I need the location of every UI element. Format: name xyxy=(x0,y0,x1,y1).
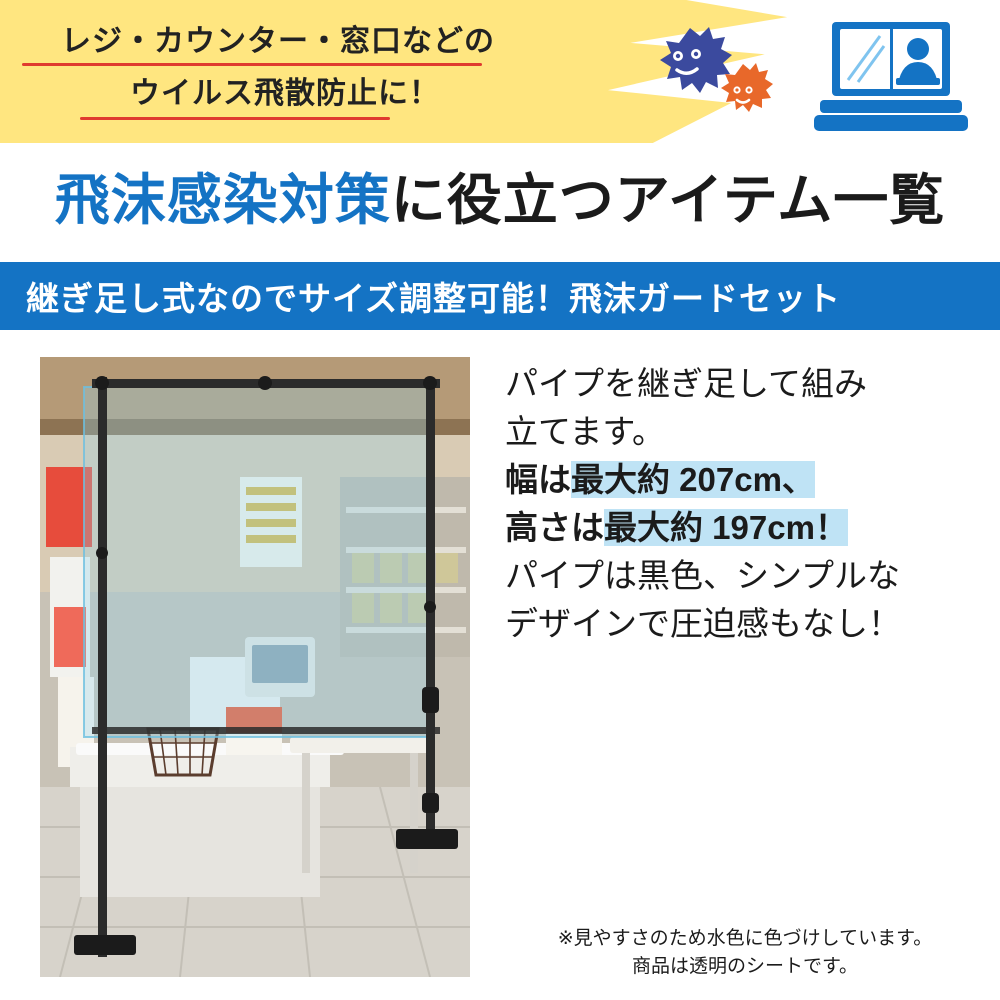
description-line-5: パイプは黒色、シンプルな xyxy=(505,552,975,600)
virus-small-icon xyxy=(708,58,778,128)
page-title-part-1: 飛沫感染対策 xyxy=(55,173,391,228)
banner-line-1: レジ・カウンター・窓口などの xyxy=(18,16,538,68)
description-line-1: パイプを継ぎ足して組み xyxy=(505,360,975,408)
banner-line-2: ウイルス飛散防止に！ xyxy=(18,68,538,120)
disclaimer-note: ※見やすさのため水色に色づけしています。 商品は透明のシートです。 xyxy=(500,925,990,981)
laptop-person-icon xyxy=(810,14,970,139)
subtitle-bar: 継ぎ足し式なのでサイズ調整可能！飛沫ガードセット xyxy=(0,262,1000,330)
description-line-4-highlight: 最大約 197cm！ xyxy=(604,509,848,546)
top-banner: レジ・カウンター・窓口などの ウイルス飛散防止に！ xyxy=(0,0,1000,143)
disclaimer-line-1: ※見やすさのため水色に色づけしています。 xyxy=(500,925,990,953)
banner-underline-2 xyxy=(80,117,390,120)
product-photo xyxy=(40,357,470,977)
page-title-part-2: に役立つ xyxy=(391,173,615,228)
virus-icon-group xyxy=(630,18,810,128)
description-block: パイプを継ぎ足して組み 立てます。 幅は最大約 207cm、 高さは最大約 19… xyxy=(505,360,975,648)
description-line-2: 立てます。 xyxy=(505,408,975,456)
description-line-3-prefix: 幅は xyxy=(505,461,571,498)
page-title: 飛沫感染対策 に役立つ アイテム一覧 xyxy=(0,148,1000,253)
description-line-6: デザインで圧迫感もなし！ xyxy=(505,600,975,648)
description-line-4: 高さは最大約 197cm！ xyxy=(505,504,975,552)
description-line-3: 幅は最大約 207cm、 xyxy=(505,456,975,504)
description-line-4-prefix: 高さは xyxy=(505,509,604,546)
product-photo-illustration xyxy=(40,357,470,977)
page-title-part-3: アイテム一覧 xyxy=(615,173,946,228)
disclaimer-line-2: 商品は透明のシートです。 xyxy=(500,953,990,981)
description-line-3-highlight: 最大約 207cm、 xyxy=(571,461,815,498)
banner-underline-1 xyxy=(22,63,482,66)
subtitle-text: 継ぎ足し式なのでサイズ調整可能！飛沫ガードセット xyxy=(0,272,841,320)
banner-text: レジ・カウンター・窓口などの ウイルス飛散防止に！ xyxy=(18,16,538,120)
